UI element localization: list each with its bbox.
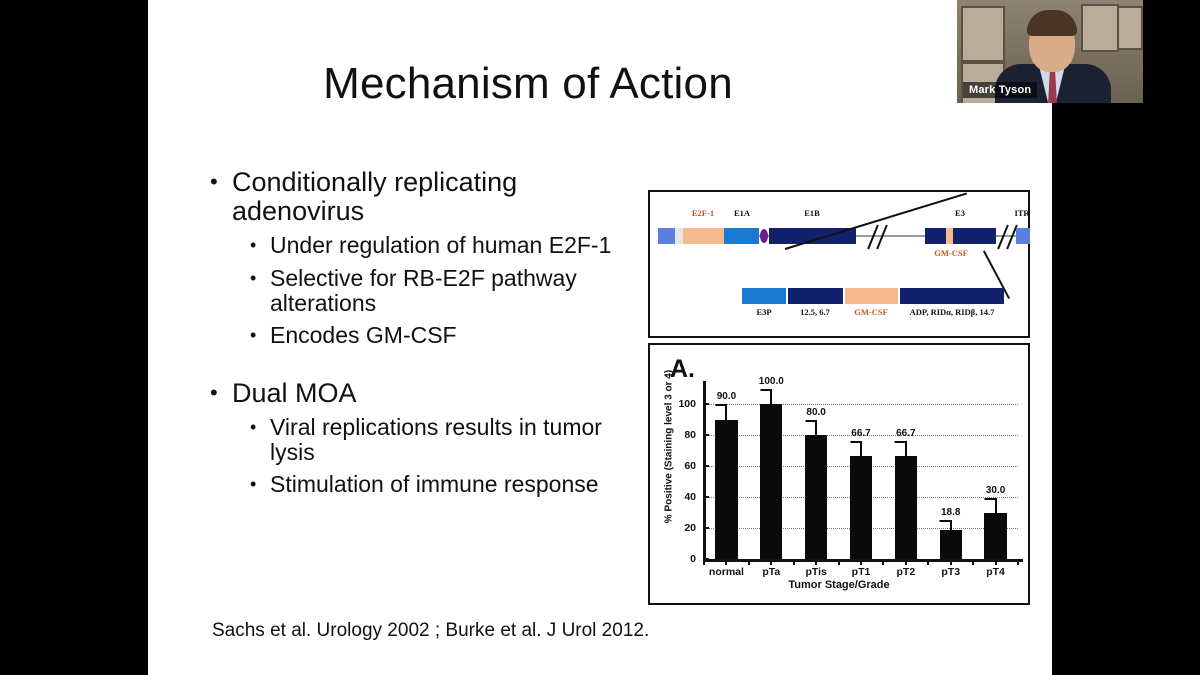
citation-text: Sachs et al. Urology 2002 ; Burke et al.…: [212, 620, 649, 642]
chart-error-cap: [940, 520, 951, 522]
chart-y-tick-mark: [703, 465, 709, 467]
chart-plot-area: 02040608010090.0normal100.0pTa80.0pTis66…: [650, 345, 1028, 603]
chart-x-tick-mark: [725, 560, 727, 565]
chart-x-tick-label: pTis: [805, 566, 826, 578]
genome-label-gmcsf-top: GM-CSF: [920, 248, 982, 258]
genome-label-e1a: E1A: [712, 208, 772, 218]
genome-segment-e3-right: [953, 228, 996, 244]
bullet-text: Conditionally replicating adenovirus: [232, 168, 630, 226]
chart-x-axis-label: Tumor Stage/Grade: [650, 579, 1028, 591]
bullet-text: Dual MOA: [232, 379, 630, 408]
chart-error-cap: [985, 498, 996, 500]
bullet-level2: • Viral replications results in tumor ly…: [250, 415, 630, 466]
genome-label-itr: ITR: [992, 208, 1052, 218]
bullet-dot-icon: •: [250, 323, 270, 348]
chart-x-tick-mark-minor: [1017, 560, 1019, 565]
chart-error-bar: [725, 404, 727, 419]
chart-y-tick-mark: [703, 496, 709, 498]
chart-x-tick-mark: [860, 560, 862, 565]
chart-x-tick-mark: [815, 560, 817, 565]
bullet-dot-icon: •: [250, 415, 270, 440]
bullet-dot-icon: •: [250, 266, 270, 291]
chart-bar: [715, 420, 737, 559]
screen-root: Mechanism of Action • Conditionally repl…: [0, 0, 1200, 675]
chart-y-axis: [703, 381, 706, 560]
chart-bar-value-label: 66.7: [896, 428, 915, 439]
wall-picture-frame: [1117, 6, 1143, 50]
chart-bar: [850, 456, 872, 559]
bullet-dot-icon: •: [250, 472, 270, 497]
chart-error-cap: [715, 404, 726, 406]
inset-segment-gmcsf: [845, 288, 898, 304]
inset-segment-adp-rid: [900, 288, 1004, 304]
chart-x-tick-mark: [770, 560, 772, 565]
bullet-level1: • Dual MOA: [210, 379, 630, 408]
bullet-level2: • Stimulation of immune response: [250, 472, 630, 497]
bullet-group-spacer: [210, 349, 630, 379]
wall-picture-frame: [961, 6, 1005, 62]
inset-segment-125-67: [788, 288, 843, 304]
chart-y-axis-label: % Positive (Staining level 3 or 4): [664, 362, 675, 532]
chart-bar-value-label: 80.0: [806, 407, 825, 418]
chart-x-tick-label: pT2: [897, 566, 916, 578]
genome-segment-gmcsf: [946, 228, 953, 244]
chart-error-cap: [760, 389, 771, 391]
chart-x-tick-mark-minor: [748, 560, 750, 565]
genome-marker-ellipse: [760, 229, 768, 243]
chart-error-bar: [860, 441, 862, 456]
chart-bar: [984, 513, 1006, 559]
chart-x-tick-mark-minor: [793, 560, 795, 565]
genome-segment-e3-left: [925, 228, 946, 244]
genome-label-e1b: E1B: [782, 208, 842, 218]
chart-x-tick-label: pTa: [762, 566, 780, 578]
chart-x-tick-mark: [950, 560, 952, 565]
wall-picture-frame: [1081, 4, 1119, 52]
chart-error-bar: [905, 441, 907, 456]
chart-x-tick-label: pT4: [986, 566, 1005, 578]
chart-x-tick-label: normal: [709, 566, 744, 578]
genome-segment-left-itr: [658, 228, 675, 244]
chart-x-tick-label: pT3: [941, 566, 960, 578]
bullet-dot-icon: •: [210, 379, 232, 407]
chart-y-tick-mark: [703, 434, 709, 436]
chart-bar-value-label: 30.0: [986, 485, 1005, 496]
chart-y-tick-mark: [703, 403, 709, 405]
chart-x-tick-mark-minor: [972, 560, 974, 565]
bullet-level1: • Conditionally replicating adenovirus: [210, 168, 630, 226]
bullet-text: Viral replications results in tumor lysi…: [270, 415, 630, 466]
participant-video-tile[interactable]: Mark Tyson: [957, 0, 1143, 103]
chart-error-cap: [850, 441, 861, 443]
chart-x-tick-mark-minor: [927, 560, 929, 565]
chart-bar: [895, 456, 917, 559]
adenovirus-genome-figure: E2F-1E1AE1BE3ITRGM-CSFE3P12.5, 6.7GM-CSF…: [648, 190, 1030, 338]
bullet-text: Selective for RB-E2F pathway alterations: [270, 266, 630, 317]
chart-gridline: [704, 404, 1018, 405]
slide-canvas: Mechanism of Action • Conditionally repl…: [148, 0, 1052, 675]
chart-x-tick-mark: [995, 560, 997, 565]
genome-segment-spacer: [675, 228, 683, 244]
bullet-text: Stimulation of immune response: [270, 472, 630, 497]
chart-x-tick-mark: [905, 560, 907, 565]
chart-error-bar: [995, 498, 997, 513]
chart-x-tick-mark-minor: [838, 560, 840, 565]
chart-x-tick-label: pT1: [852, 566, 871, 578]
inset-label-gmcsf: GM-CSF: [826, 307, 916, 317]
chart-y-tick-mark: [703, 527, 709, 529]
inset-label-adp-rid: ADP, RIDα, RIDβ, 14.7: [907, 307, 997, 317]
chart-bar: [805, 435, 827, 559]
bullet-dot-icon: •: [250, 233, 270, 258]
chart-error-cap: [895, 441, 906, 443]
genome-label-e3: E3: [930, 208, 990, 218]
chart-x-axis: [703, 559, 1023, 562]
inset-segment-e3p: [742, 288, 786, 304]
chart-bar-value-label: 66.7: [851, 428, 870, 439]
chart-error-bar: [770, 389, 772, 404]
chart-bar: [940, 530, 962, 559]
genome-break-slash: [876, 225, 888, 250]
chart-bar-value-label: 90.0: [717, 391, 736, 402]
bullet-level2: • Selective for RB-E2F pathway alteratio…: [250, 266, 630, 317]
chart-bar-value-label: 100.0: [759, 376, 784, 387]
participant-name-label: Mark Tyson: [963, 82, 1037, 98]
bullet-level2: • Encodes GM-CSF: [250, 323, 630, 348]
bullet-level2: • Under regulation of human E2F-1: [250, 233, 630, 258]
genome-segment-e1a: [724, 228, 759, 244]
chart-y-tick-label: 0: [660, 553, 696, 565]
staining-bar-chart-figure: A. 02040608010090.0normal100.0pTa80.0pTi…: [648, 343, 1030, 605]
genome-segment-e2f1: [683, 228, 724, 244]
chart-bar-value-label: 18.8: [941, 507, 960, 518]
chart-error-bar: [815, 420, 817, 435]
genome-segment-right-itr: [1016, 228, 1030, 244]
slide-title: Mechanism of Action: [148, 61, 908, 107]
chart-bar: [760, 404, 782, 559]
chart-x-tick-mark-minor: [882, 560, 884, 565]
bullet-list: • Conditionally replicating adenovirus •…: [210, 168, 630, 498]
bullet-text: Encodes GM-CSF: [270, 323, 630, 348]
chart-x-tick-mark-minor: [703, 560, 705, 565]
bullet-dot-icon: •: [210, 168, 232, 196]
bullet-text: Under regulation of human E2F-1: [270, 233, 630, 258]
chart-error-cap: [805, 420, 816, 422]
